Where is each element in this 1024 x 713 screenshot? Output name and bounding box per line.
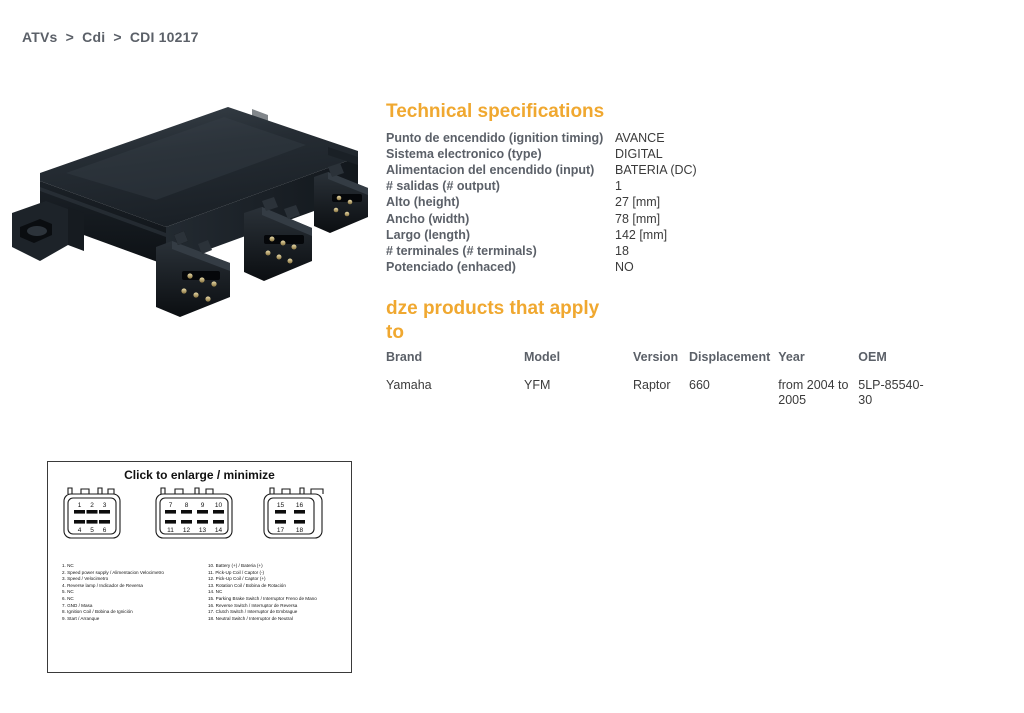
legend-item: 3. Speed / Velocimetro bbox=[62, 576, 164, 583]
spec-label: Alto (height) bbox=[386, 194, 615, 210]
technical-specifications-title: Technical specifications bbox=[386, 100, 986, 124]
connector-pinout-graphic: 123 456 bbox=[48, 484, 351, 554]
svg-text:7: 7 bbox=[169, 502, 173, 509]
svg-text:9: 9 bbox=[201, 502, 205, 509]
diagram-caption[interactable]: Click to enlarge / minimize bbox=[48, 468, 351, 482]
spec-label: # salidas (# output) bbox=[386, 178, 615, 194]
svg-text:1: 1 bbox=[78, 502, 82, 509]
svg-text:4: 4 bbox=[78, 527, 82, 534]
column-header-model: Model bbox=[524, 350, 633, 378]
breadcrumb: ATVs > Cdi > CDI 10217 bbox=[22, 29, 199, 45]
column-header-oem: OEM bbox=[858, 350, 936, 378]
spec-label: Largo (length) bbox=[386, 227, 615, 243]
table-header-row: Brand Model Version Displacement Year OE… bbox=[386, 350, 936, 378]
spec-value: 78 [mm] bbox=[615, 211, 660, 227]
pin-legend-right: 10. Battery (+) / Bateria (+) 11. Pick-U… bbox=[208, 563, 317, 622]
svg-text:17: 17 bbox=[277, 527, 285, 534]
spec-value: BATERIA (DC) bbox=[615, 162, 697, 178]
spec-row: Sistema electronico (type) DIGITAL bbox=[386, 146, 986, 162]
cell-displacement: 660 bbox=[689, 378, 778, 408]
legend-item: 1. NC bbox=[62, 563, 164, 570]
spec-value: 142 [mm] bbox=[615, 227, 667, 243]
svg-text:11: 11 bbox=[167, 527, 174, 534]
spec-row: Punto de encendido (ignition timing) AVA… bbox=[386, 130, 986, 146]
svg-text:2: 2 bbox=[90, 502, 94, 509]
spec-value: DIGITAL bbox=[615, 146, 663, 162]
column-header-brand: Brand bbox=[386, 350, 524, 378]
legend-item: 13. Rotation Coil / Bobina de Rotación bbox=[208, 583, 317, 590]
legend-item: 15. Parking Brake Switch / Interruptor F… bbox=[208, 596, 317, 603]
breadcrumb-separator: > bbox=[113, 29, 121, 45]
svg-text:18: 18 bbox=[296, 527, 304, 534]
spec-row: Potenciado (enhaced) NO bbox=[386, 259, 986, 275]
svg-text:12: 12 bbox=[183, 527, 191, 534]
wiring-diagram-panel[interactable]: Click to enlarge / minimize bbox=[47, 461, 352, 673]
legend-item: 5. NC bbox=[62, 589, 164, 596]
spec-label: Potenciado (enhaced) bbox=[386, 259, 615, 275]
pin-legend-left: 1. NC 2. Speed power supply / Alimentaci… bbox=[62, 563, 164, 622]
spec-label: Punto de encendido (ignition timing) bbox=[386, 130, 615, 146]
svg-text:16: 16 bbox=[296, 502, 304, 509]
spec-label: Sistema electronico (type) bbox=[386, 146, 615, 162]
spec-row: # terminales (# terminals) 18 bbox=[386, 243, 986, 259]
legend-item: 11. Pick-Up Coil / Captor (-) bbox=[208, 570, 317, 577]
column-header-version: Version bbox=[633, 350, 689, 378]
column-header-year: Year bbox=[778, 350, 858, 378]
applicable-products-section: dze products that apply to Brand Model V… bbox=[386, 297, 986, 408]
svg-text:13: 13 bbox=[199, 527, 207, 534]
legend-item: 2. Speed power supply / Alimentacion Vel… bbox=[62, 570, 164, 577]
legend-item: 17. Clutch Switch / Interruptor de Embra… bbox=[208, 609, 317, 616]
spec-row: # salidas (# output) 1 bbox=[386, 178, 986, 194]
legend-item: 14. NC bbox=[208, 589, 317, 596]
legend-item: 12. Pick-Up Coil / Captor (+) bbox=[208, 576, 317, 583]
technical-specifications-list: Punto de encendido (ignition timing) AVA… bbox=[386, 130, 986, 276]
legend-item: 6. NC bbox=[62, 596, 164, 603]
table-row: Yamaha YFM Raptor 660 from 2004 to 2005 … bbox=[386, 378, 936, 408]
spec-value: AVANCE bbox=[615, 130, 665, 146]
cell-brand: Yamaha bbox=[386, 378, 524, 408]
spec-value: 1 bbox=[615, 178, 622, 194]
cell-oem: 5LP-85540-30 bbox=[858, 378, 936, 408]
svg-text:6: 6 bbox=[103, 527, 107, 534]
svg-text:3: 3 bbox=[103, 502, 107, 509]
cell-year: from 2004 to 2005 bbox=[778, 378, 858, 408]
legend-item: 10. Battery (+) / Bateria (+) bbox=[208, 563, 317, 570]
column-header-displacement: Displacement bbox=[689, 350, 778, 378]
spec-label: Alimentacion del encendido (input) bbox=[386, 162, 615, 178]
legend-item: 7. GND / Masa bbox=[62, 603, 164, 610]
breadcrumb-separator: > bbox=[66, 29, 74, 45]
spec-row: Alimentacion del encendido (input) BATER… bbox=[386, 162, 986, 178]
cell-model: YFM bbox=[524, 378, 633, 408]
breadcrumb-item-current: CDI 10217 bbox=[130, 29, 199, 45]
svg-text:14: 14 bbox=[215, 527, 223, 534]
breadcrumb-item-atvs[interactable]: ATVs bbox=[22, 29, 58, 45]
spec-value: NO bbox=[615, 259, 634, 275]
svg-text:5: 5 bbox=[90, 527, 94, 534]
applicable-products-table: Brand Model Version Displacement Year OE… bbox=[386, 350, 936, 408]
spec-value: 18 bbox=[615, 243, 629, 259]
legend-item: 18. Neutral Switch / Interruptor de Neut… bbox=[208, 616, 317, 623]
svg-text:10: 10 bbox=[215, 502, 223, 509]
spec-row: Largo (length) 142 [mm] bbox=[386, 227, 986, 243]
legend-item: 9. Start / Arranque bbox=[62, 616, 164, 623]
legend-item: 16. Reverse Switch / Interruptor de Reve… bbox=[208, 603, 317, 610]
spec-label: # terminales (# terminals) bbox=[386, 243, 615, 259]
applicable-products-title: dze products that apply to bbox=[386, 297, 616, 344]
svg-text:8: 8 bbox=[185, 502, 189, 509]
spec-row: Ancho (width) 78 [mm] bbox=[386, 211, 986, 227]
cell-version: Raptor bbox=[633, 378, 689, 408]
svg-text:15: 15 bbox=[277, 502, 285, 509]
spec-value: 27 [mm] bbox=[615, 194, 660, 210]
legend-item: 8. Ignition Coil / Bobina de Ignición bbox=[62, 609, 164, 616]
connector-4-pin bbox=[264, 488, 323, 538]
spec-label: Ancho (width) bbox=[386, 211, 615, 227]
breadcrumb-item-cdi[interactable]: Cdi bbox=[82, 29, 105, 45]
spec-row: Alto (height) 27 [mm] bbox=[386, 194, 986, 210]
product-image[interactable] bbox=[6, 95, 378, 320]
legend-item: 4. Reverse lamp / Indicador de Reversa bbox=[62, 583, 164, 590]
